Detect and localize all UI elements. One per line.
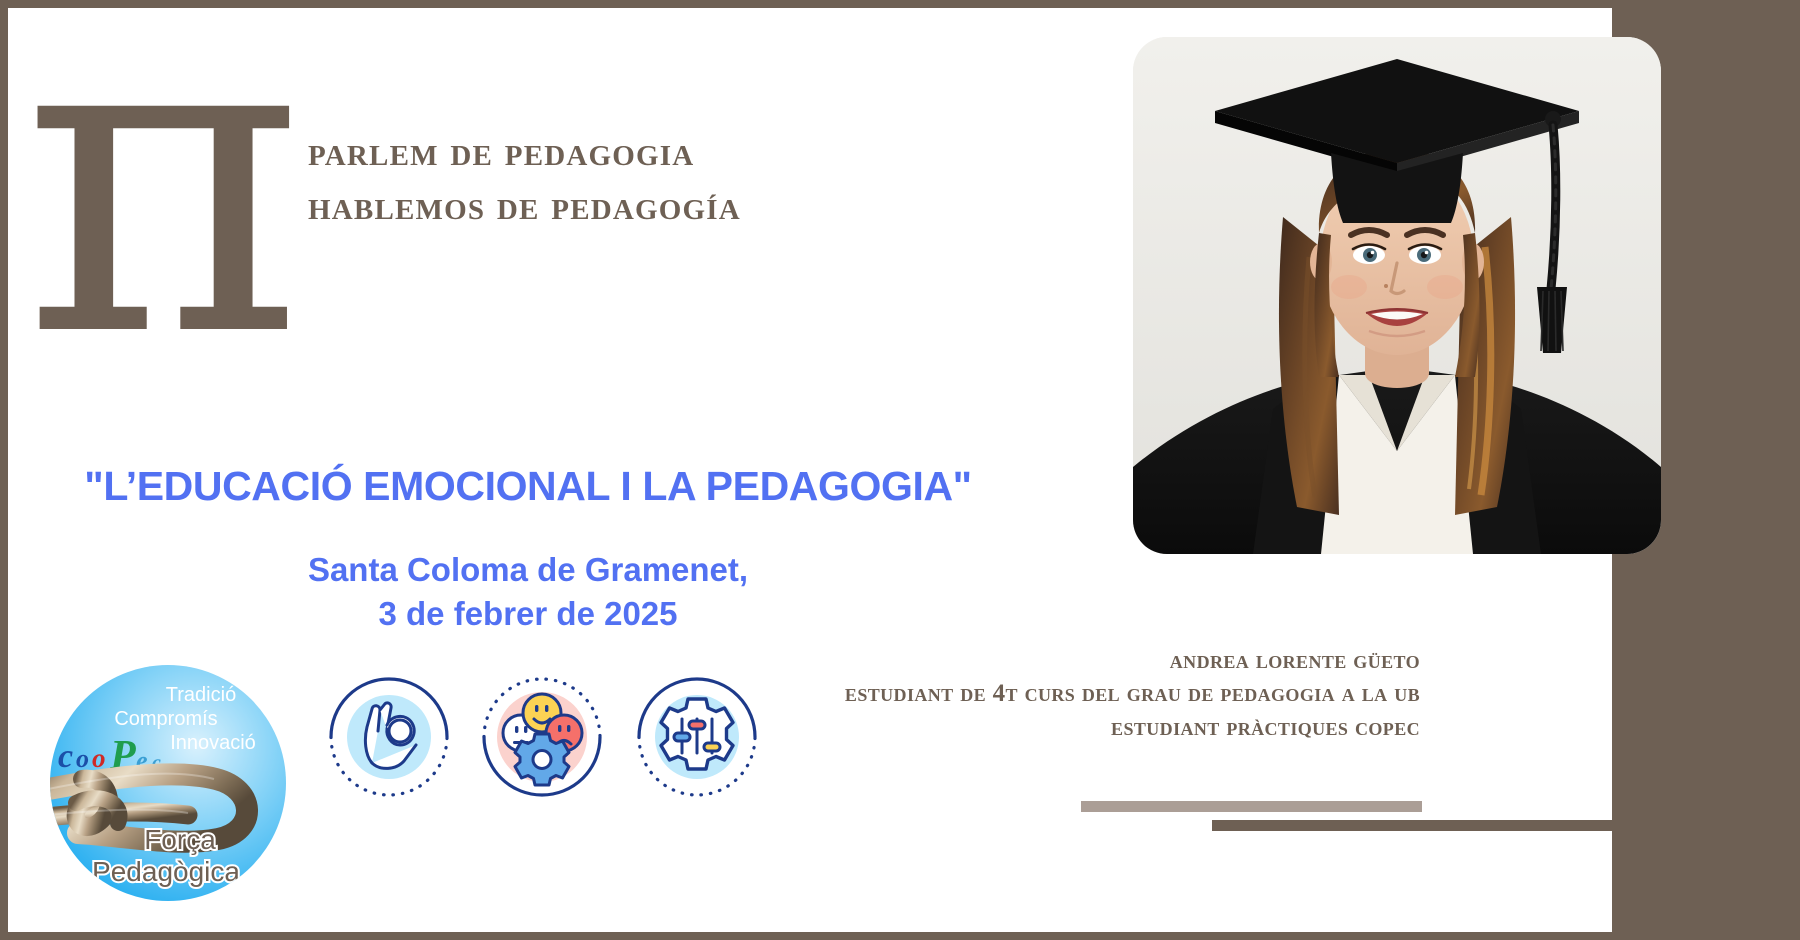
svg-text:o: o [76, 744, 89, 773]
ok-hand-icon [314, 653, 464, 818]
speaker-role-line-1: Estudiant de 4t curs del Grau de Pedagog… [845, 677, 1420, 710]
concept-icons-row [314, 653, 774, 818]
svg-text:Força: Força [144, 824, 216, 855]
svg-text:c: c [58, 738, 73, 775]
speaker-name: Andrea Lorente Güeto [845, 644, 1420, 677]
svg-text:Compromís: Compromís [114, 708, 217, 730]
svg-text:Pedagògica: Pedagògica [92, 856, 240, 887]
speaker-role-line-2: Estudiant pràctiques COPEC [845, 711, 1420, 744]
poster-root: π Parlem de Pedagogia Hablemos de Pedago… [0, 0, 1800, 940]
svg-text:Innovació: Innovació [170, 732, 256, 754]
speaker-credentials: Andrea Lorente Güeto Estudiant de 4t cur… [845, 644, 1420, 744]
brand-header: Parlem de Pedagogia Hablemos de Pedagogí… [308, 126, 948, 234]
svg-text:o: o [92, 743, 106, 773]
accent-bar-dark [1212, 820, 1612, 831]
event-title: "L’EDUCACIÓ EMOCIONAL I LA PEDAGOGIA" [8, 463, 1048, 510]
pi-symbol-logo: π [22, 0, 305, 396]
settings-sliders-icon [622, 653, 772, 818]
copec-logo: Tradició Compromís Innovació c o o P e c [48, 663, 288, 903]
speaker-photo [1133, 37, 1661, 554]
svg-text:Tradició: Tradició [166, 684, 236, 706]
event-place-date: Santa Coloma de Gramenet, 3 de febrer de… [8, 548, 1048, 636]
event-place: Santa Coloma de Gramenet, [8, 548, 1048, 592]
accent-bar-light [1081, 801, 1422, 812]
brand-title-catalan: Parlem de Pedagogia [308, 126, 948, 180]
emotions-gear-icon [467, 653, 617, 818]
event-date: 3 de febrer de 2025 [8, 592, 1048, 636]
brand-title-spanish: Hablemos de Pedagogía [308, 180, 948, 234]
